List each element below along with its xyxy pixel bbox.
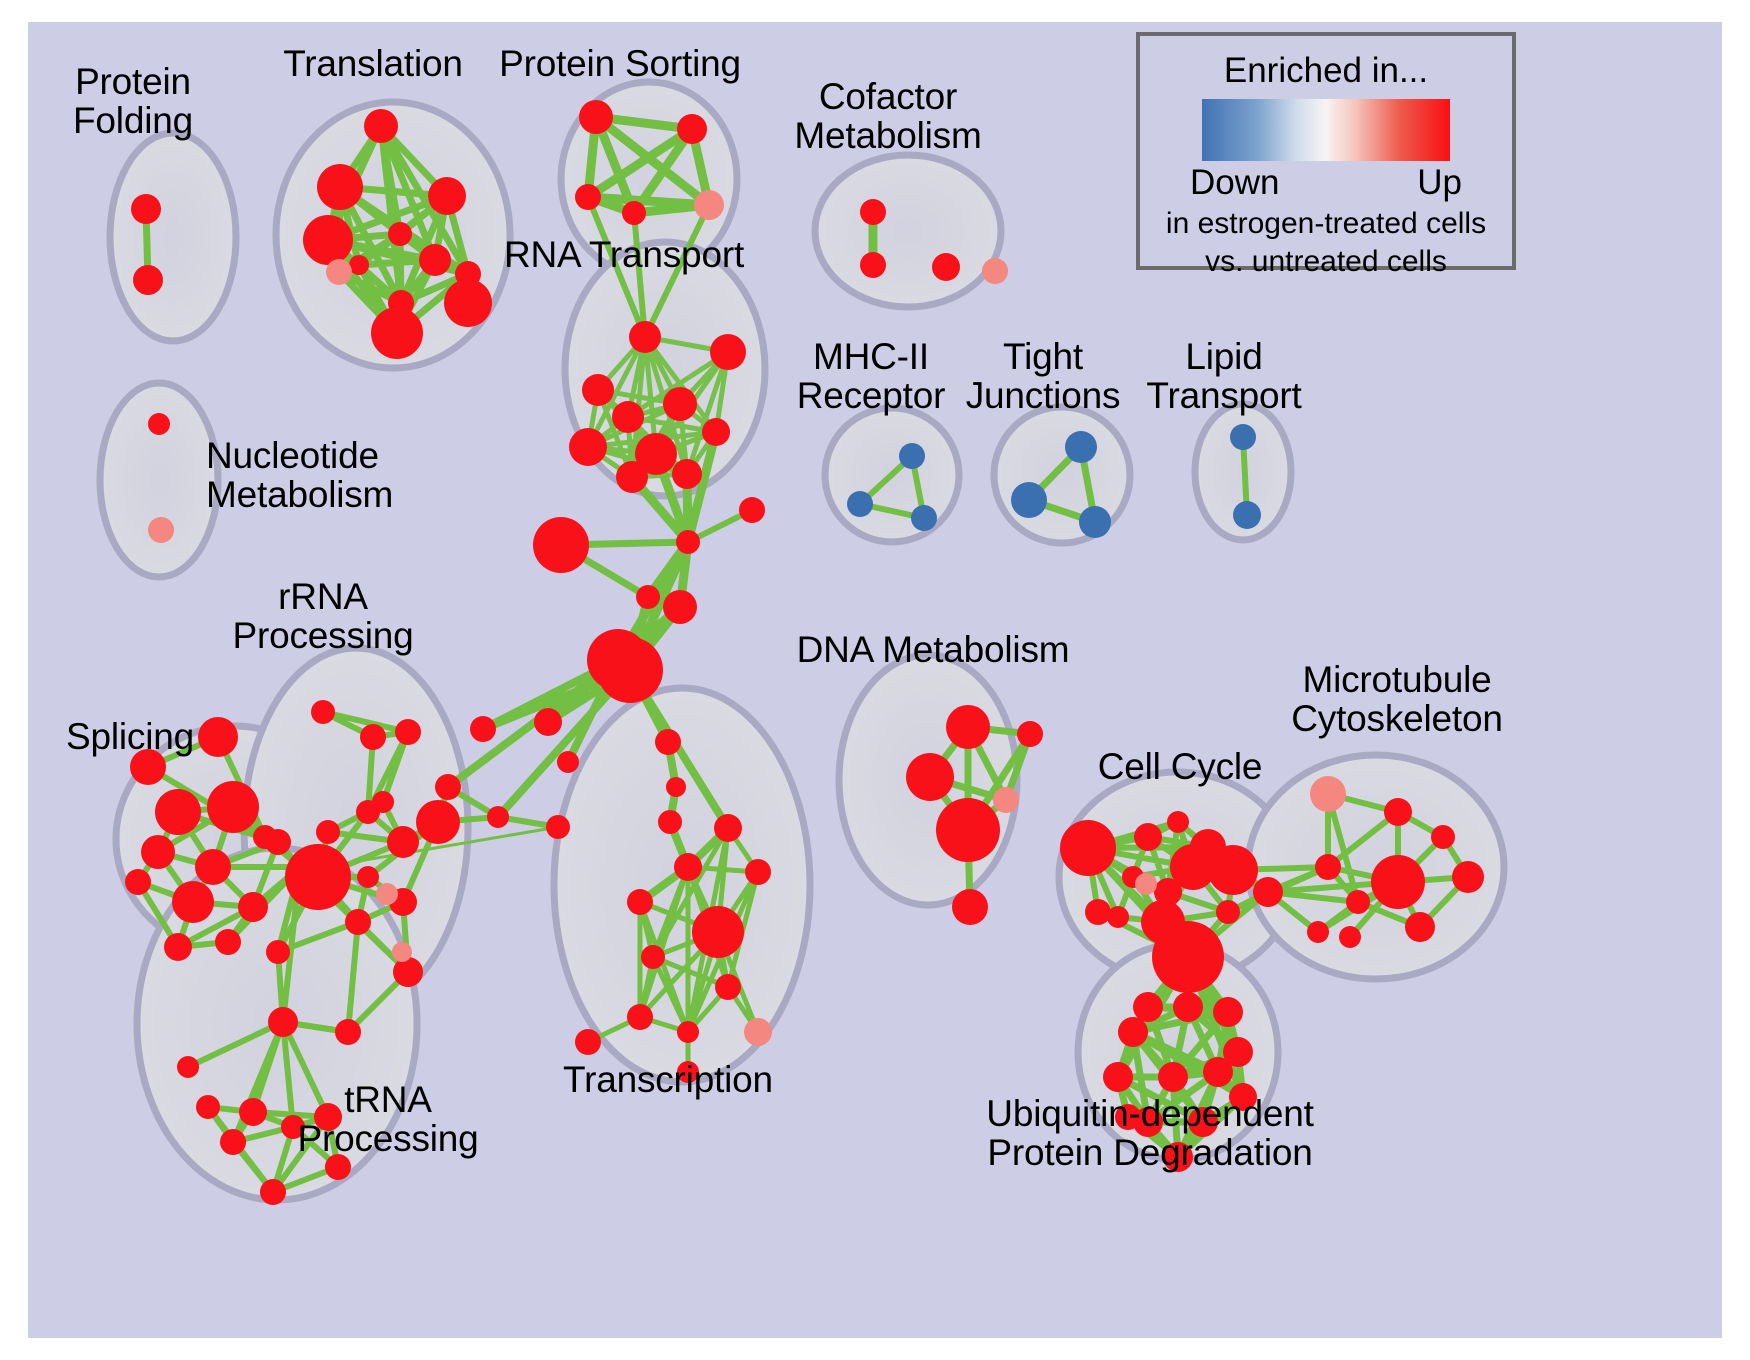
cluster-label-protein-folding: Protein Folding bbox=[73, 62, 193, 140]
cluster-label-splicing: Splicing bbox=[66, 717, 194, 756]
legend-low-label: Down bbox=[1190, 163, 1279, 203]
legend-high-label: Up bbox=[1417, 163, 1462, 203]
cluster-label-cell-cycle: Cell Cycle bbox=[1098, 747, 1263, 786]
legend: Enriched in... Down Up in estrogen-treat… bbox=[1136, 32, 1516, 270]
cluster-label-lipid-transport: Lipid Transport bbox=[1146, 337, 1301, 415]
figure-root: Protein Folding Translation Protein Sort… bbox=[0, 0, 1750, 1360]
halo-nucleotide-metabolism bbox=[100, 383, 218, 577]
cluster-label-protein-sorting: Protein Sorting bbox=[499, 44, 741, 83]
cluster-label-dna-metabolism: DNA Metabolism bbox=[797, 630, 1070, 669]
network-canvas: Protein Folding Translation Protein Sort… bbox=[28, 22, 1722, 1338]
cluster-label-transcription: Transcription bbox=[563, 1060, 773, 1099]
legend-endpoints: Down Up bbox=[1190, 163, 1462, 203]
cluster-label-tight-junctions: Tight Junctions bbox=[966, 337, 1121, 415]
cluster-label-microtubule: Microtubule Cytoskeleton bbox=[1291, 660, 1503, 738]
halo-cofactor-metabolism bbox=[815, 155, 1001, 307]
cluster-label-ubiquitin: Ubiquitin-dependent Protein Degradation bbox=[986, 1094, 1313, 1172]
legend-colorbar bbox=[1202, 99, 1450, 161]
cluster-label-translation: Translation bbox=[283, 44, 462, 83]
legend-caption-line1: in estrogen-treated cells bbox=[1140, 207, 1512, 241]
cluster-label-rna-transport: RNA Transport bbox=[504, 235, 744, 274]
halo-protein-folding bbox=[110, 133, 236, 341]
cluster-label-mhc-ii-receptor: MHC-II Receptor bbox=[797, 337, 946, 415]
cluster-label-trna-processing: tRNA Processing bbox=[297, 1080, 478, 1158]
legend-title: Enriched in... bbox=[1140, 51, 1512, 91]
cluster-label-nucleotide-metabolism: Nucleotide Metabolism bbox=[206, 436, 393, 514]
legend-caption-line2: vs. untreated cells bbox=[1140, 245, 1512, 279]
cluster-label-rrna-processing: rRNA Processing bbox=[232, 577, 413, 655]
cluster-label-cofactor-metabolism: Cofactor Metabolism bbox=[794, 77, 981, 155]
